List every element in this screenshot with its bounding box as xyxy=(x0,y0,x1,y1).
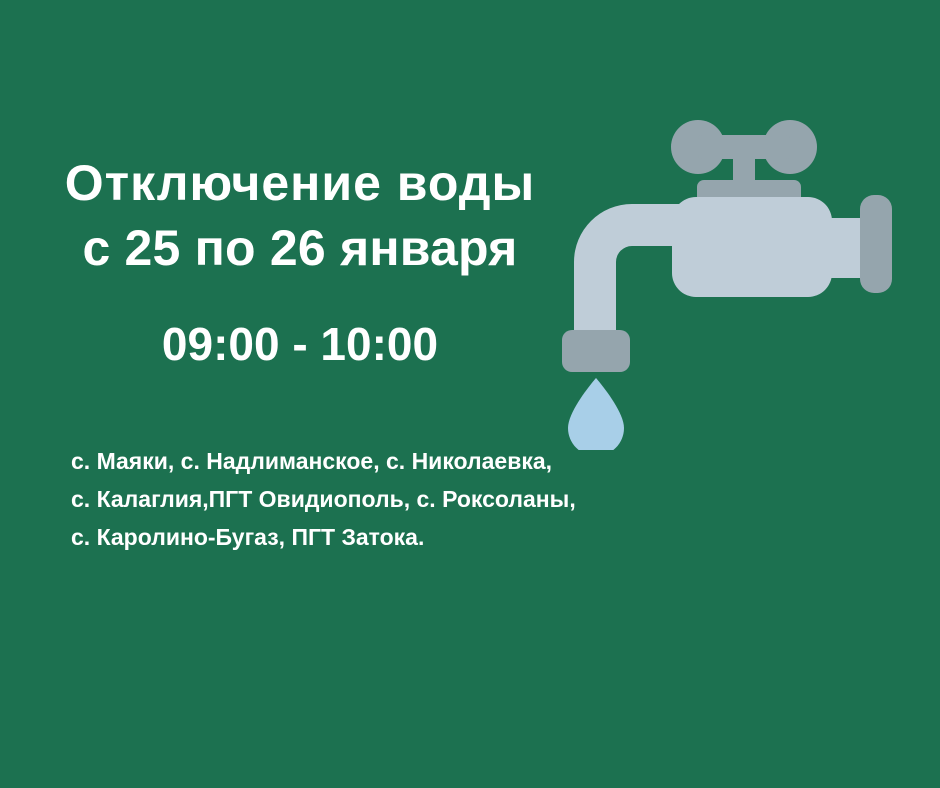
time-range: 09:00 - 10:00 xyxy=(0,316,600,372)
headline-line-primary: Отключение воды xyxy=(0,152,600,214)
water-shutoff-poster: Отключение воды с 25 по 26 января 09:00 … xyxy=(0,0,940,788)
settlement-line: с. Маяки, с. Надлиманское, с. Николаевка… xyxy=(71,442,771,480)
settlement-line: с. Калаглия,ПГТ Овидиополь, с. Роксоланы… xyxy=(71,480,771,518)
faucet-end-cap-icon xyxy=(860,195,892,293)
faucet-body-icon xyxy=(672,197,832,297)
headline-line-dates: с 25 по 26 января xyxy=(0,214,600,282)
headline-block: Отключение воды с 25 по 26 января xyxy=(0,152,600,282)
settlement-line: с. Каролино-Бугаз, ПГТ Затока. xyxy=(71,518,771,556)
water-drop-icon xyxy=(568,378,624,450)
settlement-list: с. Маяки, с. Надлиманское, с. Николаевка… xyxy=(71,442,771,556)
faucet-illustration xyxy=(540,100,940,450)
